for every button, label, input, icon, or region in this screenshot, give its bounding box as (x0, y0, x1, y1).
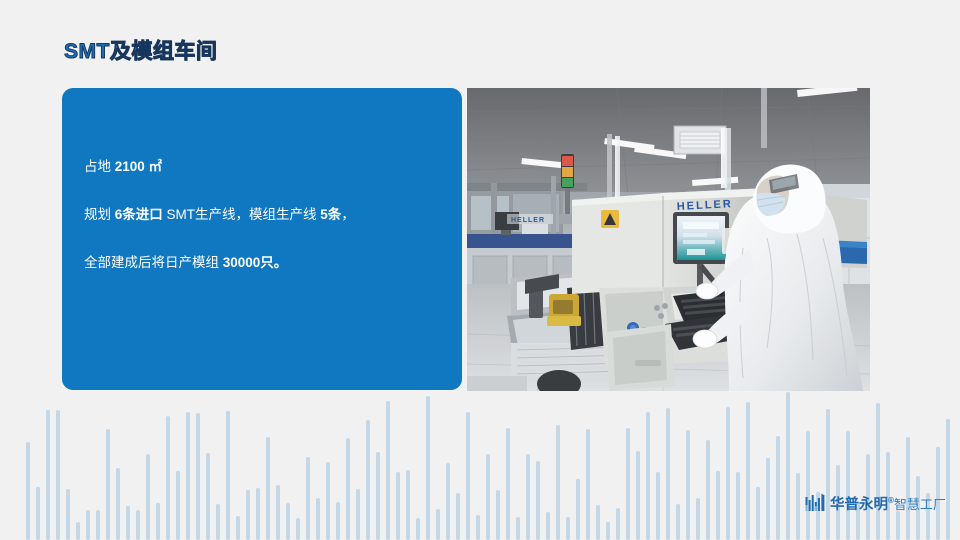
decorative-bar (26, 442, 30, 540)
info-card-body: 占地 2100 ㎡规划 6条进口 SMT生产线，模组生产线 5条，全部建成后将日… (84, 158, 446, 273)
decorative-bar (386, 401, 390, 540)
decorative-bar (186, 412, 190, 540)
decorative-bar (596, 505, 600, 540)
info-text: SMT生产线，模组生产线 (163, 207, 321, 222)
decorative-bar (346, 438, 350, 540)
decorative-bar (746, 402, 750, 540)
brand-logo: 华普永明®智慧工厂 (805, 488, 946, 512)
decorative-bar (196, 413, 200, 540)
decorative-bar (436, 509, 440, 540)
decorative-bar (376, 452, 380, 540)
decorative-bar (766, 458, 770, 540)
decorative-bar (546, 512, 550, 540)
decorative-bar (66, 489, 70, 540)
decorative-bar (786, 392, 790, 540)
decorative-bar (636, 451, 640, 540)
decorative-bar (826, 409, 830, 540)
decorative-bar (146, 454, 150, 540)
decorative-bar (216, 504, 220, 540)
decorative-bar (56, 410, 60, 540)
decorative-bar (116, 468, 120, 540)
decorative-bar (726, 407, 730, 540)
decorative-bar (676, 504, 680, 540)
decorative-bar (586, 429, 590, 540)
decorative-bar (136, 510, 140, 540)
workshop-photo-image: HELLER (467, 88, 870, 391)
decorative-bar (316, 498, 320, 540)
info-highlight: 30000只。 (223, 255, 288, 270)
decorative-bar (246, 490, 250, 540)
decorative-bar (96, 510, 100, 540)
decorative-bar (476, 515, 480, 540)
workshop-photo: HELLER (467, 88, 870, 391)
info-line: 规划 6条进口 SMT生产线，模组生产线 5条， (84, 206, 446, 224)
decorative-bar (566, 517, 570, 540)
decorative-bar (76, 522, 80, 540)
decorative-bar (266, 437, 270, 540)
brand-sub-name: 智慧工厂 (894, 497, 946, 512)
decorative-bar (396, 472, 400, 540)
decorative-bar (796, 473, 800, 540)
decorative-bar (456, 493, 460, 540)
decorative-bar (336, 502, 340, 540)
decorative-bar (366, 420, 370, 540)
decorative-bar (416, 518, 420, 540)
decorative-bar (236, 516, 240, 540)
info-highlight: 6条进口 (115, 207, 163, 222)
decorative-bar (686, 430, 690, 540)
decorative-bar (616, 508, 620, 540)
decorative-bar (206, 453, 210, 540)
decorative-bar (166, 416, 170, 540)
huapu-yongming-logo-mark-icon (805, 493, 825, 512)
decorative-bar (446, 463, 450, 540)
info-line: 占地 2100 ㎡ (84, 158, 446, 176)
decorative-bar (716, 471, 720, 540)
decorative-bar (46, 410, 50, 540)
info-text: 规划 (84, 207, 115, 222)
brand-main-name: 华普永明 (830, 497, 888, 513)
decorative-bar (576, 479, 580, 540)
info-text: 全部建成后将日产模组 (84, 255, 223, 270)
decorative-bar (646, 412, 650, 540)
decorative-bar (306, 457, 310, 540)
decorative-bar (36, 487, 40, 540)
info-card: 占地 2100 ㎡规划 6条进口 SMT生产线，模组生产线 5条，全部建成后将日… (62, 88, 462, 390)
decorative-bar (496, 490, 500, 540)
decorative-bar (536, 461, 540, 540)
decorative-bar (896, 511, 900, 540)
decorative-bar (226, 411, 230, 540)
decorative-bar (506, 428, 510, 540)
decorative-bar (426, 396, 430, 540)
page-title: SMT及模组车间 (64, 35, 217, 65)
info-text: ， (341, 207, 355, 222)
decorative-bar (156, 503, 160, 540)
info-text: 占地 (84, 159, 115, 174)
decorative-bar (466, 412, 470, 540)
decorative-bar (276, 485, 280, 540)
decorative-bar (706, 440, 710, 540)
decorative-bar (656, 472, 660, 540)
brand-name: 华普永明®智慧工厂 (830, 497, 946, 512)
decorative-bar (326, 462, 330, 540)
decorative-bar (286, 503, 290, 540)
info-highlight: 2100 ㎡ (115, 159, 162, 174)
decorative-bar (776, 436, 780, 540)
decorative-bar (356, 489, 360, 540)
decorative-bar (106, 429, 110, 540)
decorative-bar (946, 419, 950, 540)
decorative-bar (806, 431, 810, 540)
info-line: 全部建成后将日产模组 30000只。 (84, 254, 446, 272)
decorative-bar (486, 454, 490, 540)
decorative-bar (126, 506, 130, 540)
slide-canvas: SMT及模组车间 占地 2100 ㎡规划 6条进口 SMT生产线，模组生产线 5… (0, 0, 960, 540)
decorative-bar (526, 454, 530, 540)
decorative-bar (86, 510, 90, 540)
decorative-bar (256, 488, 260, 540)
info-highlight: 5条 (320, 207, 341, 222)
decorative-bar (756, 487, 760, 540)
decorative-bar (876, 403, 880, 540)
decorative-bar (626, 428, 630, 540)
decorative-bar (696, 498, 700, 540)
decorative-bar (406, 470, 410, 540)
decorative-bar (846, 431, 850, 540)
decorative-bar (296, 518, 300, 540)
decorative-bar (736, 472, 740, 540)
decorative-bar (666, 408, 670, 540)
decorative-bar (176, 471, 180, 540)
decorative-bar (606, 522, 610, 540)
decorative-bar (556, 425, 560, 540)
decorative-bar-field (0, 392, 960, 540)
decorative-bar (516, 517, 520, 540)
